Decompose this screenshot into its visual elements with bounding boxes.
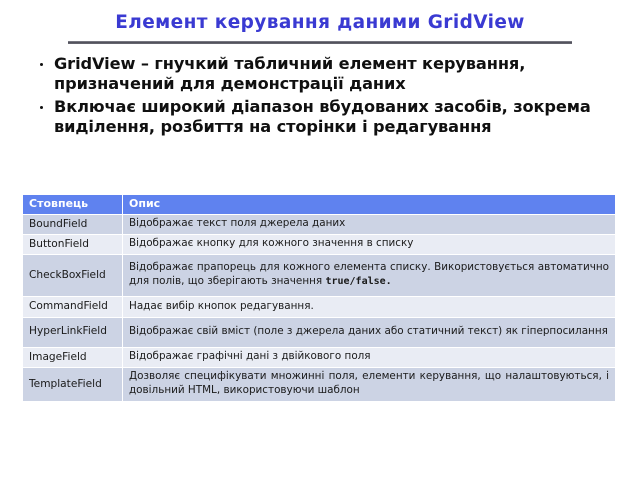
column-header-name: Стовпець	[23, 195, 123, 215]
list-item-text: GridView – гнучкий табличний елемент кер…	[54, 54, 620, 95]
table-row: ButtonField Відображає кнопку для кожног…	[23, 235, 616, 255]
cell-field-name: ImageField	[23, 347, 123, 367]
cell-field-name: CheckBoxField	[23, 255, 123, 297]
column-header-description: Опис	[123, 195, 616, 215]
gridview-fields-table: Стовпець Опис BoundField Відображає текс…	[22, 194, 616, 402]
description-code: true/false.	[325, 276, 391, 287]
cell-field-name: ButtonField	[23, 235, 123, 255]
slide-canvas: Елемент керування даними GridView GridVi…	[0, 0, 640, 480]
cell-field-name: TemplateField	[23, 367, 123, 401]
cell-field-description: Відображає прапорець для кожного елемент…	[123, 255, 616, 297]
table-row: HyperLinkField Відображає свій вміст (по…	[23, 317, 616, 347]
cell-field-description: Відображає кнопку для кожного значення в…	[123, 235, 616, 255]
title-divider	[68, 41, 572, 44]
table-row: CheckBoxField Відображає прапорець для к…	[23, 255, 616, 297]
bullet-dot-icon	[40, 54, 54, 66]
cell-field-name: BoundField	[23, 215, 123, 235]
cell-field-description: Відображає графічні дані з двійкового по…	[123, 347, 616, 367]
list-item: GridView – гнучкий табличний елемент кер…	[40, 54, 620, 95]
cell-field-description: Надає вибір кнопок редагування.	[123, 297, 616, 317]
cell-field-name: CommandField	[23, 297, 123, 317]
bullet-list: GridView – гнучкий табличний елемент кер…	[40, 54, 620, 140]
cell-field-name: HyperLinkField	[23, 317, 123, 347]
cell-field-description: Відображає текст поля джерела даних	[123, 215, 616, 235]
table-row: BoundField Відображає текст поля джерела…	[23, 215, 616, 235]
list-item: Включає широкий діапазон вбудованих засо…	[40, 97, 620, 138]
table-row: CommandField Надає вибір кнопок редагува…	[23, 297, 616, 317]
cell-field-description: Дозволяє специфікувати множинні поля, ел…	[123, 367, 616, 401]
page-title: Елемент керування даними GridView	[0, 12, 640, 33]
list-item-text: Включає широкий діапазон вбудованих засо…	[54, 97, 620, 138]
table-row: TemplateField Дозволяє специфікувати мно…	[23, 367, 616, 401]
cell-field-description: Відображає свій вміст (поле з джерела да…	[123, 317, 616, 347]
table-row: ImageField Відображає графічні дані з дв…	[23, 347, 616, 367]
table-header-row: Стовпець Опис	[23, 195, 616, 215]
bullet-dot-icon	[40, 97, 54, 109]
